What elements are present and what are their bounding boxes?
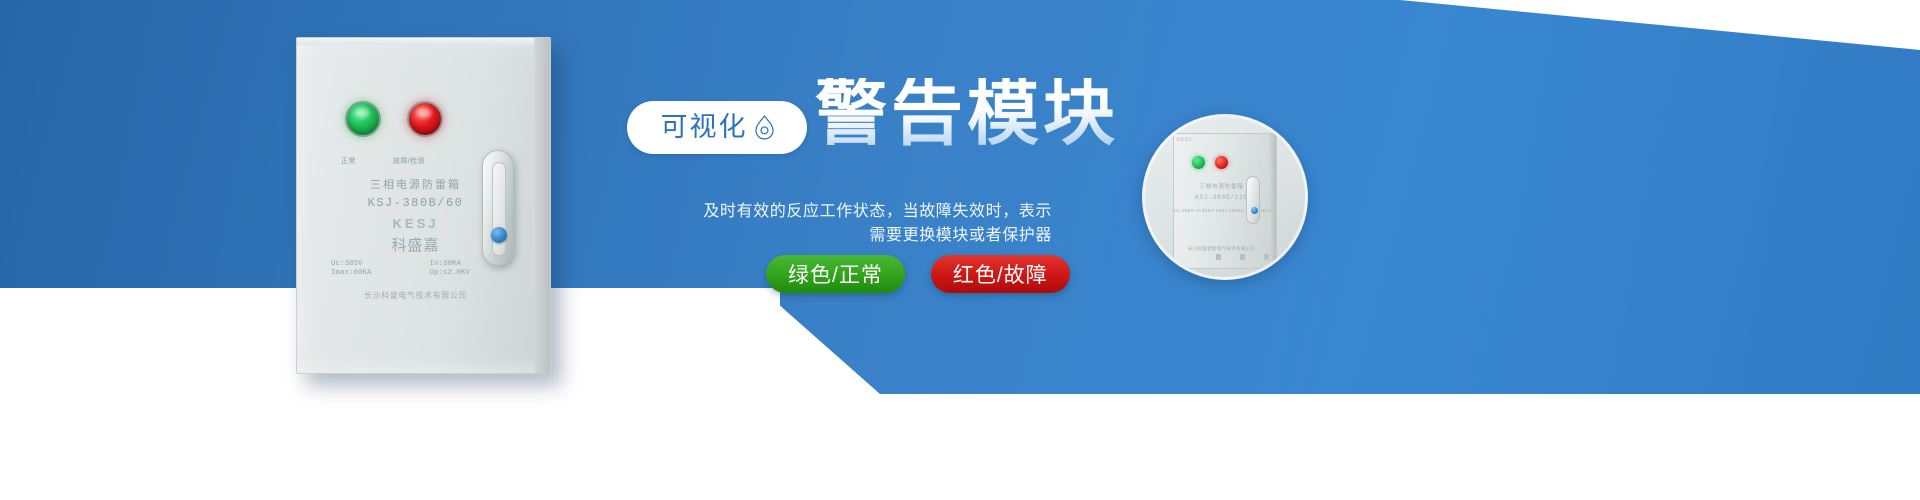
subtitle-line-1: 及时有效的反应工作状态，当故障失效时，表示 (600, 200, 1052, 224)
inset-mounting-feet (1206, 254, 1302, 260)
status-badge-fault: 红色/故障 (931, 255, 1070, 293)
inset-enclosure: KESJ 三相电源防雷箱 KSJ-380D/125 Uc:385V In:30K… (1173, 133, 1277, 269)
inset-door-handle (1246, 176, 1260, 224)
product-company-label: 长沙科盛电气技术有限公司 (297, 290, 534, 301)
page-title: 警告模块 (815, 78, 1119, 150)
subtitle-line-2: 需要更换模块或者保护器 (600, 224, 1052, 248)
spec-imax: Imax:60KA (331, 269, 430, 277)
inset-indicator-lamp-red (1215, 156, 1228, 169)
product-photo: 正常 故障/检测 三相电源防雷箱 KSJ-380B/60 KESJ 科盛嘉 Uc… (296, 37, 551, 374)
product-enclosure: 正常 故障/检测 三相电源防雷箱 KSJ-380B/60 KESJ 科盛嘉 Uc… (296, 37, 551, 374)
status-badge-row: 绿色/正常 红色/故障 (766, 255, 1070, 293)
promo-banner: 正常 故障/检测 三相电源防雷箱 KSJ-380B/60 KESJ 科盛嘉 Uc… (0, 0, 1920, 500)
banner-white-strip-bottom-right (740, 394, 1920, 500)
inset-product-photo: KESJ 三相电源防雷箱 KSJ-380D/125 Uc:385V In:30K… (1142, 114, 1308, 280)
subtitle-block: 及时有效的反应工作状态，当故障失效时，表示 需要更换模块或者保护器 (600, 200, 1052, 248)
lamp-label-fault: 故障/检测 (393, 156, 425, 166)
enclosure-top-edge (297, 38, 550, 45)
inset-foot (1240, 254, 1245, 260)
inset-foot (1288, 254, 1293, 260)
inset-company-label: 长沙科盛智能电气技术有限公司 (1174, 246, 1269, 252)
spec-up: Up:≤2.0KV (430, 269, 529, 277)
indicator-lamp-green (345, 101, 381, 137)
door-handle (482, 150, 514, 266)
status-badge-normal: 绿色/正常 (766, 255, 905, 293)
inset-foot (1264, 254, 1269, 260)
inset-door-handle-knob (1251, 207, 1258, 214)
inset-indicator-lamp-green (1192, 156, 1205, 169)
eye-diamond-icon (755, 115, 774, 140)
enclosure-right-edge (534, 38, 550, 373)
inset-foot (1216, 254, 1221, 260)
visualization-badge: 可视化 (627, 101, 807, 154)
spec-uc: Uc:385V (331, 260, 430, 268)
door-handle-knob (491, 227, 507, 243)
inset-enclosure-edge (1269, 134, 1276, 268)
spec-in: In:30KA (430, 260, 529, 268)
indicator-lamp-red (407, 101, 443, 137)
visualization-badge-label: 可视化 (661, 114, 748, 141)
inset-brand-label: KESJ (1177, 137, 1192, 143)
lamp-label-normal: 正常 (341, 156, 356, 166)
